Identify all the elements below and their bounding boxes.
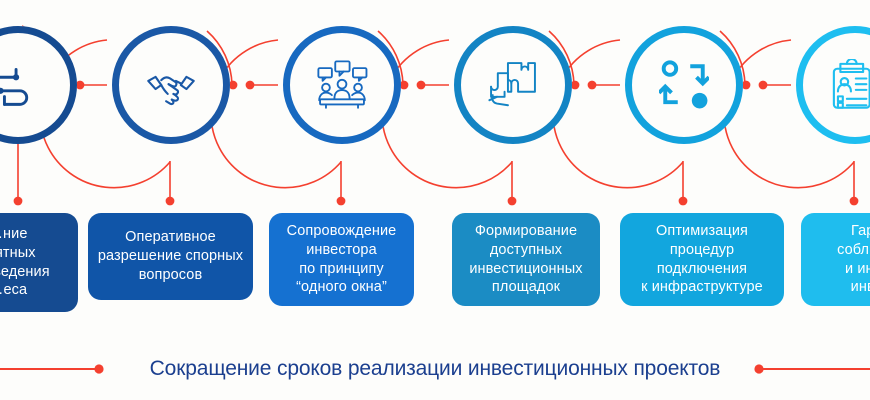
step-5-card[interactable]: Оптимизация процедур подключения к инфра… (620, 213, 784, 306)
drop-dot-step-5 (679, 197, 688, 206)
step-1-icon-circle[interactable] (0, 26, 77, 144)
link-dot-2-3 (246, 81, 255, 90)
link-dot-4-5 (588, 81, 597, 90)
step-4-icon-circle[interactable] (454, 26, 572, 144)
clipboard-person-icon (829, 59, 870, 111)
drop-dot-step-3 (337, 197, 346, 206)
step-1-card[interactable]: …ние …ятных …й ведения …еса (0, 213, 78, 312)
step-6-card-label: Гар… соблюд… и инт… инв… (837, 222, 870, 297)
step-3-icon-circle[interactable] (283, 26, 401, 144)
step-6-icon-circle[interactable] (796, 26, 870, 144)
step-4-card-label: Формирование доступных инвестиционных пл… (469, 222, 582, 297)
infographic-canvas: …ние …ятных …й ведения …еса Оперативное … (0, 0, 870, 400)
summary-banner: Сокращение сроков реализации инвестицион… (0, 352, 870, 386)
step-4-card[interactable]: Формирование доступных инвестиционных пл… (452, 213, 600, 306)
link-dot-5-6 (759, 81, 768, 90)
network-flow-icon (0, 54, 49, 116)
step-2-card[interactable]: Оперативное разрешение спорных вопросов (88, 213, 253, 300)
drop-dot-step-4 (508, 197, 517, 206)
drop-dot-step-6 (850, 197, 859, 206)
step-2-card-label: Оперативное разрешение спорных вопросов (98, 228, 243, 285)
drop-dot-step-2 (166, 197, 175, 206)
handshake-icon (145, 59, 197, 111)
step-3-card[interactable]: Сопровождение инвестора по принципу “одн… (269, 213, 414, 306)
step-5-icon-circle[interactable] (625, 26, 743, 144)
step-2-icon-circle[interactable] (112, 26, 230, 144)
link-dot-3-4 (417, 81, 426, 90)
summary-banner-label: Сокращение сроков реализации инвестицион… (0, 352, 870, 386)
meeting-discussion-icon (315, 58, 369, 112)
drop-dot-step-1 (14, 197, 23, 206)
process-swap-icon (659, 60, 709, 110)
step-6-card[interactable]: Гар… соблюд… и инт… инв… (801, 213, 870, 306)
step-1-card-label: …ние …ятных …й ведения …еса (0, 225, 50, 300)
step-3-card-label: Сопровождение инвестора по принципу “одн… (287, 222, 397, 297)
step-5-card-label: Оптимизация процедур подключения к инфра… (641, 222, 763, 297)
puzzle-hand-icon (486, 58, 540, 112)
